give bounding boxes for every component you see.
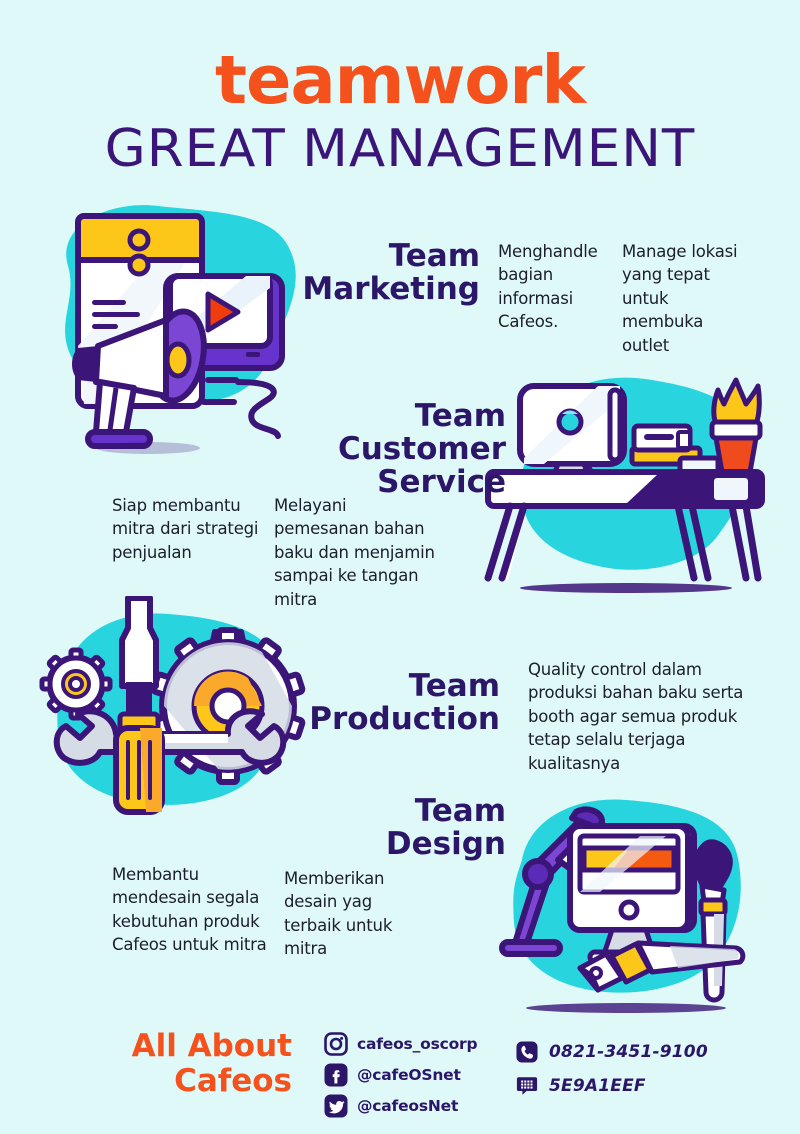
- contact-bbm[interactable]: 5E9A1EEF: [516, 1071, 708, 1101]
- instagram-icon: [324, 1032, 348, 1056]
- page-title: teamwork: [0, 47, 800, 114]
- contact-phone[interactable]: 0821-3451-9100: [516, 1037, 708, 1067]
- twitter-icon: [324, 1094, 348, 1118]
- footer-brand-line1: All About: [72, 1029, 292, 1064]
- heading-line: Team: [300, 670, 500, 703]
- heading-line: Design: [360, 828, 506, 861]
- phone-icon: [516, 1041, 538, 1063]
- marketing-illustration: [38, 196, 318, 456]
- facebook-icon: [324, 1063, 348, 1087]
- footer-brand-line2: Cafeos: [72, 1064, 292, 1099]
- production-text-1: Quality control dalam produksi bahan bak…: [528, 658, 746, 775]
- design-text-1: Membantu mendesain segala kebutuhan prod…: [112, 863, 276, 957]
- marketing-text-1: Menghandle bagian informasi Cafeos.: [498, 240, 616, 334]
- heading-line: Team: [360, 795, 506, 828]
- design-illustration: [480, 786, 770, 1021]
- customer-service-text-2: Melayani pemesanan bahan baku dan menjam…: [274, 494, 436, 611]
- heading-line: Team: [290, 400, 506, 433]
- social-link-facebook[interactable]: @cafeOSnet: [324, 1061, 477, 1089]
- heading-line: Team: [300, 240, 480, 273]
- heading-line: Customer: [290, 433, 506, 466]
- footer-brand: All About Cafeos: [72, 1029, 292, 1100]
- customer-service-illustration: [480, 366, 770, 596]
- social-link-instagram[interactable]: cafeos_oscorp: [324, 1030, 477, 1058]
- marketing-text-2: Manage lokasi yang tepat untuk membuka o…: [622, 240, 752, 357]
- page-subtitle-part1: GREAT: [105, 119, 286, 179]
- design-text-2: Memberikan desain yag terbaik untuk mitr…: [284, 867, 420, 961]
- production-illustration: [28, 596, 308, 836]
- instagram-handle: cafeos_oscorp: [357, 1035, 477, 1053]
- page-subtitle-part2: MANAGEMENT: [302, 119, 695, 179]
- social-links: cafeos_oscorp @cafeOSnet @cafeosNet: [324, 1030, 477, 1123]
- social-link-twitter[interactable]: @cafeosNet: [324, 1092, 477, 1120]
- section-heading-marketing: Team Marketing: [300, 240, 480, 306]
- section-heading-design: Team Design: [360, 795, 506, 861]
- facebook-handle: @cafeOSnet: [357, 1066, 461, 1084]
- phone-number: 0821-3451-9100: [549, 1042, 708, 1062]
- poster-header: teamwork GREATMANAGEMENT: [0, 0, 800, 175]
- heading-line: Marketing: [300, 273, 480, 306]
- customer-service-text-1: Siap membantu mitra dari strategi penjua…: [112, 494, 262, 564]
- section-heading-customer-service: Team Customer Service: [290, 400, 506, 499]
- bbm-icon: [516, 1075, 538, 1097]
- section-heading-production: Team Production: [300, 670, 500, 736]
- infographic-poster: teamwork GREATMANAGEMENT: [0, 0, 800, 1134]
- bbm-pin: 5E9A1EEF: [549, 1076, 646, 1096]
- contact-info: 0821-3451-9100 5E9A1EEF: [516, 1037, 708, 1105]
- page-subtitle: GREATMANAGEMENT: [0, 123, 800, 175]
- heading-line: Production: [300, 703, 500, 736]
- twitter-handle: @cafeosNet: [357, 1097, 458, 1115]
